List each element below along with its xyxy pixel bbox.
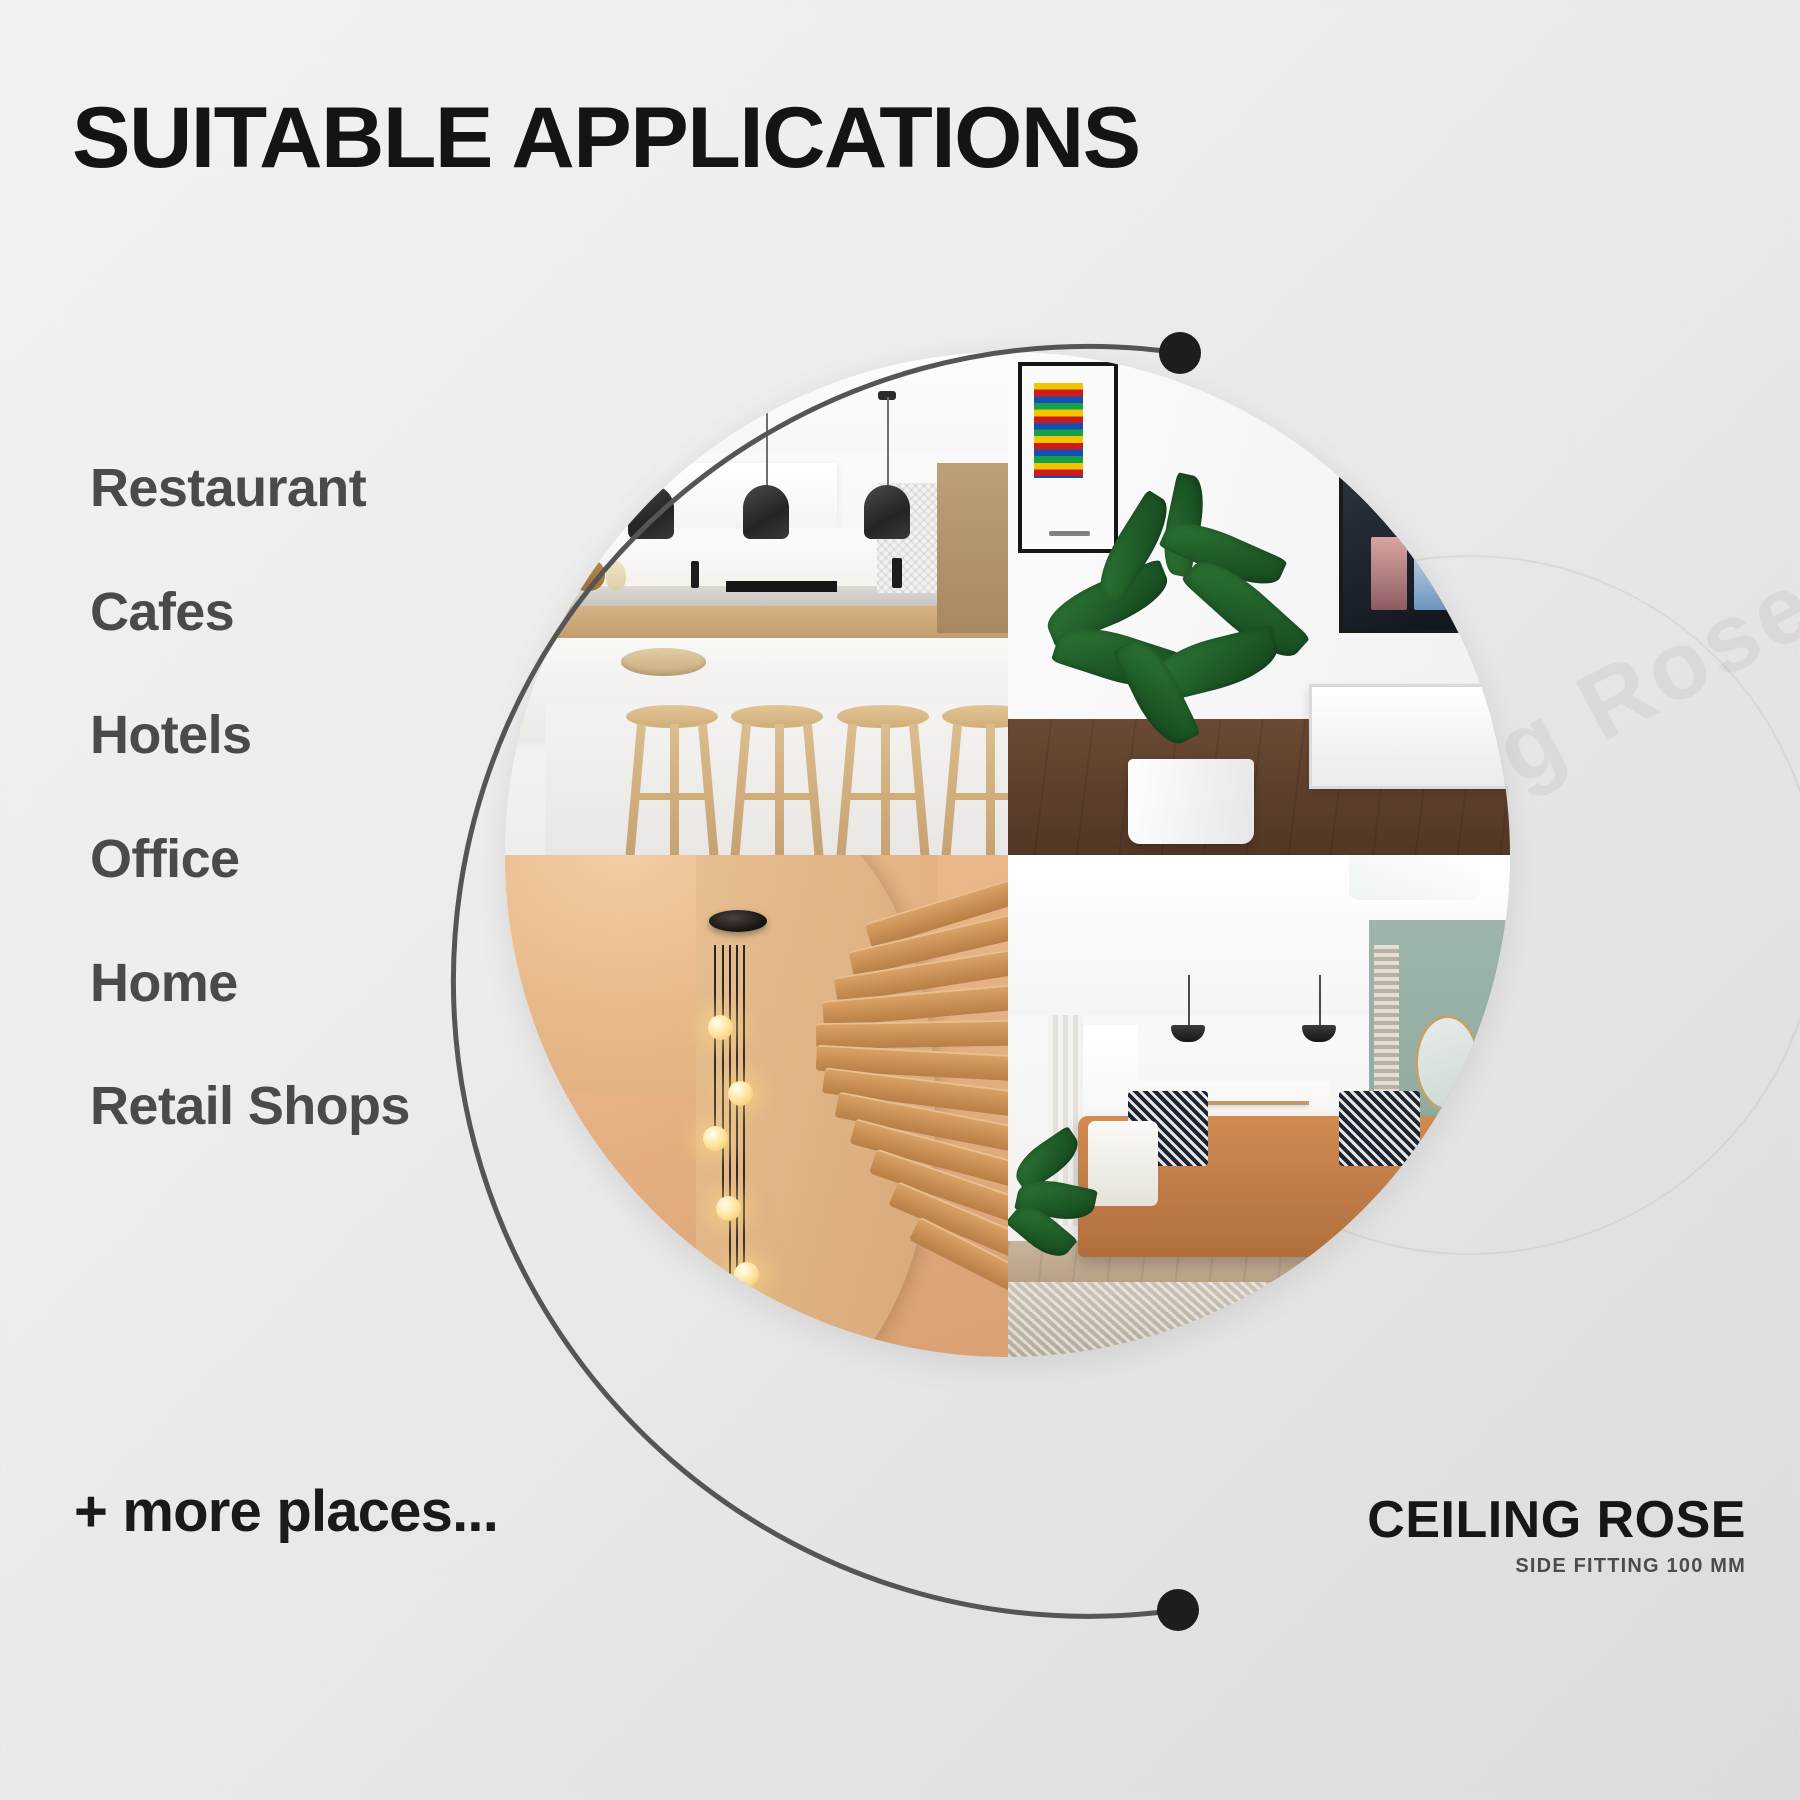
collage-photo-living-room: [1008, 352, 1511, 855]
textured-rug: [1008, 1282, 1511, 1357]
patterned-cushion-2: [1339, 1091, 1419, 1166]
pendant-bulb: [734, 1262, 759, 1287]
kitchen-chopping-board: [570, 558, 605, 591]
brand-subtitle: SIDE FITTING 100 MM: [1367, 1555, 1746, 1578]
kitchen-hob: [726, 581, 837, 592]
plant-pot: [1128, 759, 1254, 844]
stair-tread: [815, 1019, 1007, 1049]
pendant-cord: [743, 945, 745, 1357]
plant-leaf: [1428, 1180, 1490, 1232]
lounge-plant-left: [1008, 1116, 1098, 1267]
striped-art-print: [1034, 383, 1082, 478]
skylight: [1349, 855, 1480, 900]
kitchen-produce: [606, 561, 626, 591]
kitchen-doorway: [937, 463, 1007, 634]
round-mirror: [1415, 1015, 1480, 1110]
pendant-bulb: [710, 1322, 735, 1347]
kitchen-woven-bowl: [621, 648, 706, 676]
pendant-cord: [722, 945, 724, 1206]
bar-stool-3: [837, 705, 929, 855]
tv-poster-3: [1457, 537, 1493, 610]
kitchen-wood-band: [505, 606, 1008, 641]
brand-name: CEILING ROSE: [1367, 1494, 1746, 1546]
pendant-bulb: [703, 1126, 728, 1151]
more-places-label: + more places...: [74, 1478, 498, 1545]
tv-poster-1: [1371, 537, 1407, 610]
orbit-dot-bottom: [1157, 1589, 1199, 1631]
plant-leaf: [1424, 1137, 1485, 1190]
ceiling-rose-fitting: [709, 910, 767, 932]
pendant-bulb: [708, 1015, 733, 1040]
pendant-bulb: [728, 1081, 753, 1106]
lounge-plant-right: [1425, 1136, 1490, 1247]
collage-photo-lounge: [1008, 855, 1511, 1358]
collage-photo-kitchen: [505, 352, 1008, 855]
bar-stool-1: [626, 705, 718, 855]
bar-stool-2: [731, 705, 823, 855]
sofa-throw: [1088, 1121, 1158, 1206]
kitchen-bottle-left: [691, 561, 699, 589]
media-cabinet: [1309, 684, 1510, 790]
bar-stool-4: [942, 705, 1007, 855]
pendant-cord: [729, 945, 731, 1277]
photo-collage: [505, 352, 1510, 1357]
tv-poster-2: [1414, 537, 1450, 610]
potted-plant: [1038, 498, 1319, 759]
brand-block: CEILING ROSE SIDE FITTING 100 MM: [1367, 1494, 1746, 1578]
kitchen-bottle-right: [892, 558, 902, 588]
page-title: SUITABLE APPLICATIONS: [72, 95, 1140, 181]
stairwell-door: [535, 1257, 615, 1342]
television: [1339, 463, 1510, 634]
kitchen-ceiling: [505, 352, 1008, 453]
collage-photo-stairwell: [505, 855, 1008, 1358]
